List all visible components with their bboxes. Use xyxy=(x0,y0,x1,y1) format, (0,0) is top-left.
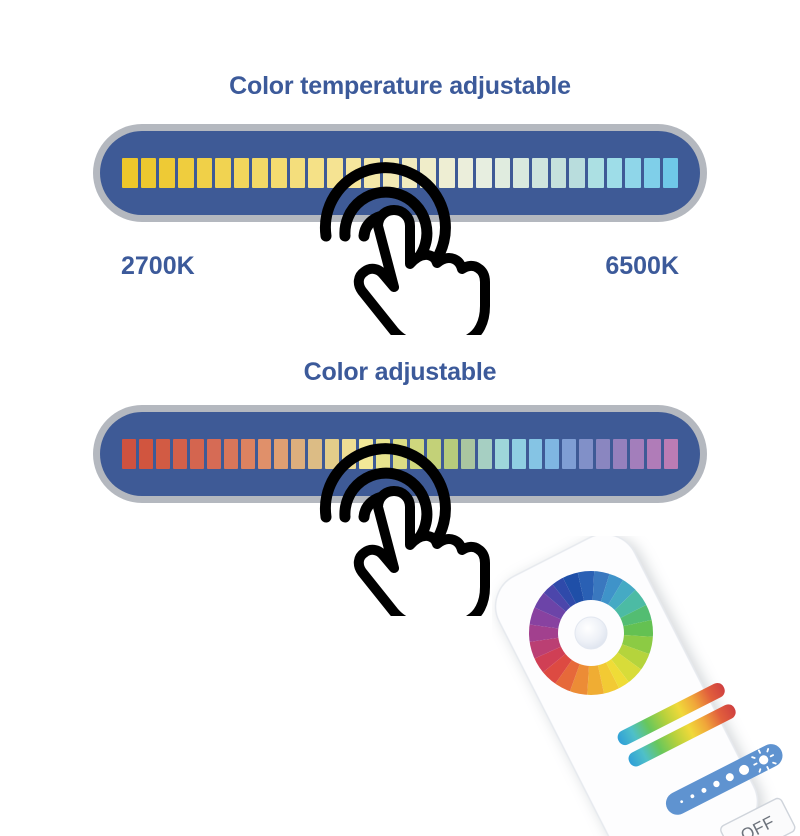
color-segment-10[interactable] xyxy=(291,439,305,469)
color-segment-21[interactable] xyxy=(478,439,492,469)
color-temperature-segment-17[interactable] xyxy=(439,158,455,188)
color-segment-25[interactable] xyxy=(545,439,559,469)
color-segment-20[interactable] xyxy=(461,439,475,469)
color-temperature-segment-29[interactable] xyxy=(663,158,679,188)
color-segment-18[interactable] xyxy=(427,439,441,469)
color-temperature-segment-5[interactable] xyxy=(215,158,231,188)
color-temperature-segment-7[interactable] xyxy=(252,158,268,188)
color-segment-6[interactable] xyxy=(224,439,238,469)
color-slider[interactable] xyxy=(93,405,707,503)
slider-frame xyxy=(93,405,707,503)
color-segment-7[interactable] xyxy=(241,439,255,469)
illustration-canvas: Color temperature adjustable 2700K 6500K… xyxy=(0,0,800,800)
color-segment-2[interactable] xyxy=(156,439,170,469)
color-segment-28[interactable] xyxy=(596,439,610,469)
color-temperature-segment-21[interactable] xyxy=(513,158,529,188)
color-segment-27[interactable] xyxy=(579,439,593,469)
color-segment-8[interactable] xyxy=(258,439,272,469)
color-segment-17[interactable] xyxy=(410,439,424,469)
color-segment-0[interactable] xyxy=(122,439,136,469)
color-temperature-segment-16[interactable] xyxy=(420,158,436,188)
color-temperature-segment-8[interactable] xyxy=(271,158,287,188)
color-segment-13[interactable] xyxy=(342,439,356,469)
color-temperature-segment-23[interactable] xyxy=(551,158,567,188)
color-temperature-segment-26[interactable] xyxy=(607,158,623,188)
color-segment-3[interactable] xyxy=(173,439,187,469)
color-segment-24[interactable] xyxy=(529,439,543,469)
color-temperature-segment-14[interactable] xyxy=(383,158,399,188)
color-segment-9[interactable] xyxy=(274,439,288,469)
color-temperature-segment-1[interactable] xyxy=(141,158,157,188)
color-temperature-segment-3[interactable] xyxy=(178,158,194,188)
slider-frame xyxy=(93,124,707,222)
color-segment-1[interactable] xyxy=(139,439,153,469)
color-segment-16[interactable] xyxy=(393,439,407,469)
color-temperature-segment-4[interactable] xyxy=(197,158,213,188)
color-temperature-heading: Color temperature adjustable xyxy=(0,72,800,101)
color-segment-12[interactable] xyxy=(325,439,339,469)
color-segment-29[interactable] xyxy=(613,439,627,469)
color-segment-30[interactable] xyxy=(630,439,644,469)
color-segment-22[interactable] xyxy=(495,439,509,469)
color-temperature-segment-15[interactable] xyxy=(402,158,418,188)
slider-body xyxy=(100,131,700,215)
color-temperature-segment-0[interactable] xyxy=(122,158,138,188)
color-segment-4[interactable] xyxy=(190,439,204,469)
color-temperature-slider[interactable] xyxy=(93,124,707,222)
color-heading: Color adjustable xyxy=(0,358,800,387)
color-segment-31[interactable] xyxy=(647,439,661,469)
color-temperature-segment-12[interactable] xyxy=(346,158,362,188)
color-segment-11[interactable] xyxy=(308,439,322,469)
color-segment-14[interactable] xyxy=(359,439,373,469)
color-temperature-segment-27[interactable] xyxy=(625,158,641,188)
color-segment-19[interactable] xyxy=(444,439,458,469)
color-temperature-min-label: 2700K xyxy=(121,252,195,281)
rgb-remote-control[interactable]: OFF xyxy=(492,536,800,836)
color-segment-5[interactable] xyxy=(207,439,221,469)
color-temperature-segment-19[interactable] xyxy=(476,158,492,188)
color-temperature-segment-28[interactable] xyxy=(644,158,660,188)
color-temperature-segment-9[interactable] xyxy=(290,158,306,188)
slider-body xyxy=(100,412,700,496)
color-temperature-max-label: 6500K xyxy=(605,252,679,281)
color-temperature-segment-22[interactable] xyxy=(532,158,548,188)
color-temperature-segment-18[interactable] xyxy=(458,158,474,188)
color-temperature-segment-13[interactable] xyxy=(364,158,380,188)
color-segment-26[interactable] xyxy=(562,439,576,469)
color-temperature-segments[interactable] xyxy=(122,158,678,188)
color-temperature-segment-25[interactable] xyxy=(588,158,604,188)
color-segments[interactable] xyxy=(122,439,678,469)
color-temperature-segment-24[interactable] xyxy=(569,158,585,188)
color-wheel-center-button xyxy=(575,617,607,649)
color-temperature-segment-2[interactable] xyxy=(159,158,175,188)
color-temperature-segment-11[interactable] xyxy=(327,158,343,188)
color-temperature-segment-6[interactable] xyxy=(234,158,250,188)
color-segment-15[interactable] xyxy=(376,439,390,469)
color-segment-32[interactable] xyxy=(664,439,678,469)
color-segment-23[interactable] xyxy=(512,439,526,469)
color-temperature-segment-20[interactable] xyxy=(495,158,511,188)
color-temperature-segment-10[interactable] xyxy=(308,158,324,188)
